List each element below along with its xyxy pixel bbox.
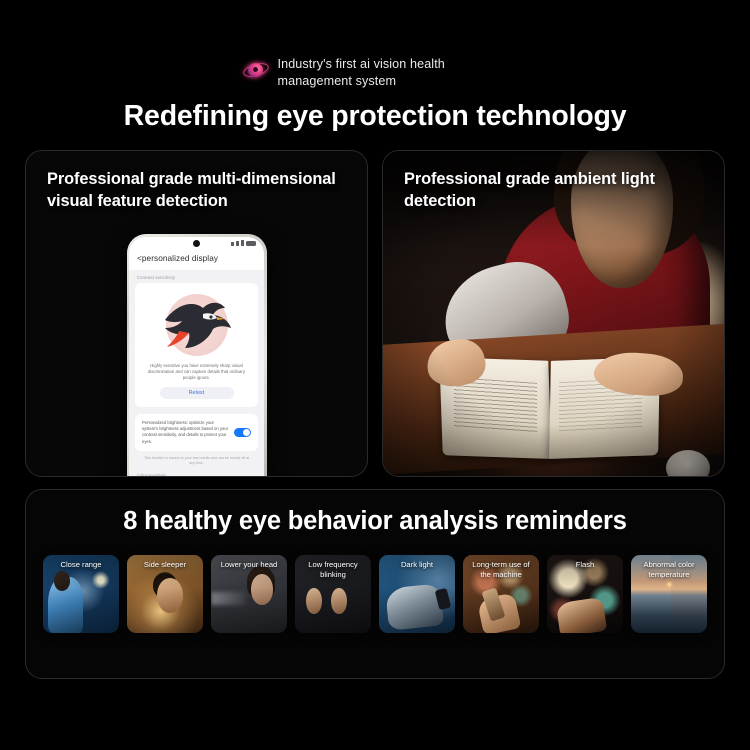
retest-button[interactable]: Retest xyxy=(160,387,234,399)
card-title: Professional grade multi-dimensional vis… xyxy=(47,169,367,213)
contrast-sensitivity-label: Contrast sensitivity xyxy=(129,270,264,283)
battery-icon xyxy=(246,241,256,246)
thumbnail-dark-light[interactable]: Dark light xyxy=(379,555,455,633)
card-visual-feature-detection[interactable]: Professional grade multi-dimensional vis… xyxy=(25,150,368,477)
color-sensitivity-label: Color sensitivity xyxy=(129,467,264,477)
card-ambient-light-detection[interactable]: Professional grade ambient light detecti… xyxy=(382,150,725,477)
behavior-reminders-title: 8 healthy eye behavior analysis reminder… xyxy=(26,490,724,536)
personalized-brightness-row[interactable]: Personalized brightness: optimize your s… xyxy=(135,414,258,451)
flying-bird-illustration xyxy=(142,288,251,362)
phone-nav-title[interactable]: <personalized display xyxy=(129,250,264,270)
eye-icon xyxy=(243,58,269,82)
thumbnail-label: Side sleeper xyxy=(127,560,203,570)
phone-screen: <personalized display Contrast sensitivi… xyxy=(129,237,264,478)
brightness-toggle[interactable] xyxy=(234,428,251,438)
signal-icon xyxy=(236,241,239,246)
wifi-icon xyxy=(241,240,244,246)
eyebrow-text: Industry's first ai vision health manage… xyxy=(278,56,508,89)
result-blurb: Highly sensitive you have extremely shar… xyxy=(142,362,251,382)
behavior-thumbnail-list: Close range Side sleeper Lower your head… xyxy=(26,536,724,633)
thumbnail-side-sleeper[interactable]: Side sleeper xyxy=(127,555,203,633)
phone-mockup: <personalized display Contrast sensitivi… xyxy=(127,234,267,477)
thumbnail-label: Close range xyxy=(43,560,119,570)
brightness-footnote: This function is based on your test resu… xyxy=(129,451,264,467)
thumbnail-label: Abnormal color temperature xyxy=(631,560,707,581)
thumbnail-abnormal-color-temperature[interactable]: Abnormal color temperature xyxy=(631,555,707,633)
camera-punchhole-icon xyxy=(193,240,200,247)
thumbnail-flash[interactable]: Flash xyxy=(547,555,623,633)
page-header: Industry's first ai vision health manage… xyxy=(0,0,750,133)
thumbnail-lower-your-head[interactable]: Lower your head xyxy=(211,555,287,633)
thumbnail-low-frequency-blinking[interactable]: Low frequency blinking xyxy=(295,555,371,633)
page-title: Redefining eye protection technology xyxy=(0,100,750,133)
thumbnail-long-term-use[interactable]: Long-term use of the machine xyxy=(463,555,539,633)
thumbnail-label: Dark light xyxy=(379,560,455,570)
brightness-description: Personalized brightness: optimize your s… xyxy=(142,420,229,445)
thumbnail-close-range[interactable]: Close range xyxy=(43,555,119,633)
thumbnail-label: Low frequency blinking xyxy=(295,560,371,581)
eyebrow-row: Industry's first ai vision health manage… xyxy=(0,56,750,89)
thumbnail-label: Long-term use of the machine xyxy=(463,560,539,581)
result-panel: Highly sensitive you have extremely shar… xyxy=(135,283,258,407)
promo-page: Industry's first ai vision health manage… xyxy=(0,0,750,750)
signal-icon xyxy=(231,242,234,246)
thumbnail-label: Flash xyxy=(547,560,623,570)
behavior-reminders-card: 8 healthy eye behavior analysis reminder… xyxy=(25,489,725,679)
phone-statusbar xyxy=(129,237,264,250)
feature-cards-row: Professional grade multi-dimensional vis… xyxy=(25,150,725,477)
card-title: Professional grade ambient light detecti… xyxy=(404,169,724,213)
status-icons xyxy=(231,240,256,246)
thumbnail-label: Lower your head xyxy=(211,560,287,570)
